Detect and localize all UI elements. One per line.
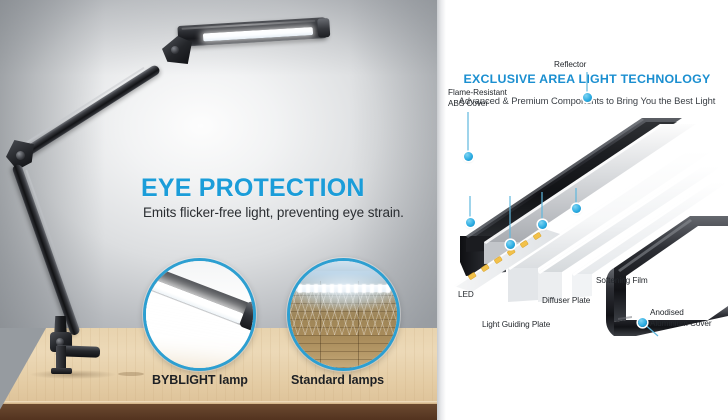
callout-label-anodised-alu-cover-line2: Aluminium Cover	[650, 319, 712, 329]
callout-dot-reflector	[583, 93, 592, 102]
exploded-assembly-svg	[446, 0, 728, 420]
lamp-head-joint-knob	[171, 46, 179, 54]
callout-label-diffuser-plate: Diffuser Plate	[542, 296, 590, 306]
lamp-upper-arm-rod	[22, 67, 145, 146]
comparison-circle-byblight	[143, 258, 256, 371]
exploded-assembly-diagram: Reflector Flame-Resistant ABS Cover LED …	[446, 0, 728, 420]
eye-protection-tagline: Emits flicker-free light, preventing eye…	[143, 205, 404, 220]
product-banner: EYE PROTECTION Emits flicker-free light,…	[0, 0, 728, 420]
lamp-lower-arm	[11, 163, 81, 336]
lamp-elbow-knob	[16, 151, 25, 160]
callout-label-softening-film: Softening Film	[596, 276, 648, 286]
callout-label-anodised-alu-cover-line1: Anodised	[650, 308, 684, 318]
lamp-clamp-shadow	[30, 370, 116, 379]
callout-dot-softening-film	[572, 204, 581, 213]
comparison-circle-standard	[287, 258, 400, 371]
callout-dot-light-guiding-plate	[506, 240, 515, 249]
lamp-head-end-cap	[317, 18, 330, 38]
callout-label-light-guiding-plate: Light Guiding Plate	[482, 320, 550, 330]
callout-dot-flame-resistant-abs	[464, 152, 473, 161]
callout-dot-diffuser-plate	[538, 220, 547, 229]
lamp-clamp-foot	[51, 368, 72, 374]
callout-dot-anodised-alu-cover	[638, 318, 647, 327]
callout-dot-led	[466, 218, 475, 227]
eye-protection-headline: EYE PROTECTION	[141, 174, 365, 203]
panel-divider	[437, 0, 446, 420]
lamp-clamp-mount	[40, 316, 100, 362]
lamp-upper-arm	[19, 64, 161, 159]
standard-multi-shadow-rays	[290, 289, 397, 335]
lamp-head	[177, 17, 328, 47]
callout-label-reflector: Reflector	[554, 60, 586, 70]
comparison-label-byblight: BYBLIGHT lamp	[152, 373, 248, 387]
left-panel-eye-protection: EYE PROTECTION Emits flicker-free light,…	[0, 0, 437, 420]
lamp-lower-arm-rod	[25, 170, 80, 320]
callout-label-flame-resistant-abs-line2: ABS Cover	[448, 99, 488, 109]
right-panel-area-light-technology: EXCLUSIVE AREA LIGHT TECHNOLOGY Advanced…	[446, 0, 728, 420]
comparison-label-standard: Standard lamps	[291, 373, 384, 387]
callout-label-flame-resistant-abs-line1: Flame-Resistant	[448, 88, 507, 98]
standard-led-hotspots	[298, 284, 390, 293]
callout-label-led: LED	[458, 290, 474, 300]
